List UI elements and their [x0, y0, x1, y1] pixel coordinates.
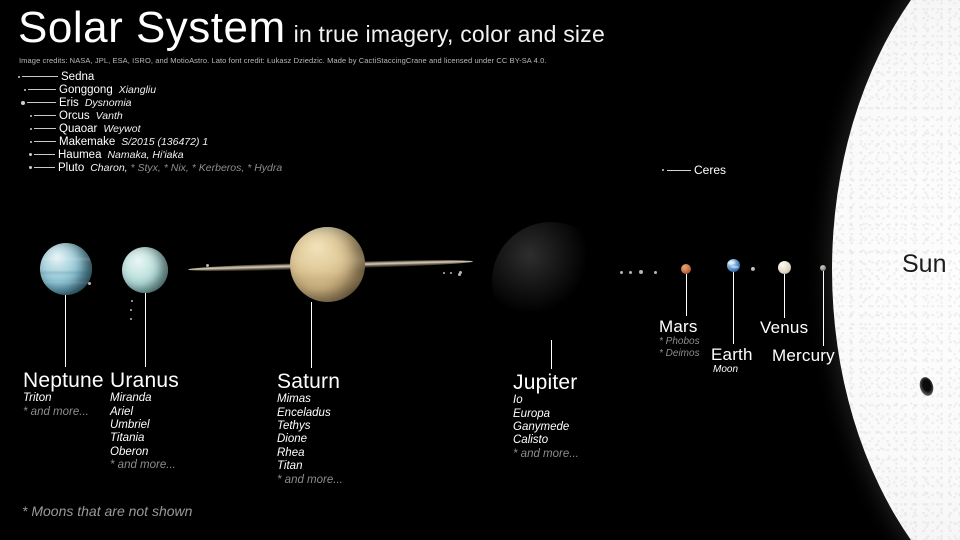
uranus-label: Uranus [110, 370, 179, 392]
uranus-moon-dot [130, 309, 132, 311]
list-item: Pluto Charon, * Styx, * Nix, * Kerberos,… [18, 161, 282, 174]
mars-moon-name: * Deimos [659, 348, 700, 360]
mercury-label-group: Mercury [772, 347, 835, 365]
ceres-callout: Ceres [662, 163, 726, 177]
earth-planet [727, 259, 740, 272]
saturn-moon-name: Mimas [277, 393, 343, 406]
venus-label-group: Venus [760, 319, 808, 337]
saturn-label-group: Saturn Mimas Enceladus Tethys Dione Rhea… [277, 371, 343, 487]
saturn-planet [290, 227, 365, 302]
neptune-more-moons: * and more... [23, 406, 104, 419]
saturn-moon-name: Rhea [277, 447, 343, 460]
jupiter-moon-name: Io [513, 394, 579, 407]
list-item: Eris Dysnomia [18, 96, 282, 109]
footnote: * Moons that are not shown [22, 503, 192, 519]
leader-line [28, 89, 56, 90]
dwarf-planet-dot [30, 141, 32, 143]
solar-system-infographic: Sun Solar Systemin true imagery, color a… [0, 0, 960, 540]
earth-label-group: Earth Moon [711, 346, 753, 376]
dwarf-planet-moons: Xiangliu [119, 84, 156, 96]
uranus-moon-name: Titania [110, 432, 179, 445]
title-main: Solar System [18, 3, 286, 52]
uranus-moon-name: Ariel [110, 406, 179, 419]
credits-line: Image credits: NASA, JPL, ESA, ISRO, and… [19, 56, 547, 65]
earth-clouds [727, 259, 740, 272]
jupiter-moon-dot [459, 271, 462, 274]
neptune-label: Neptune [23, 370, 104, 392]
earth-label: Earth [711, 346, 753, 364]
leader-line [34, 154, 55, 155]
jupiter-planet [492, 222, 610, 340]
neptune-moon-name: Triton [23, 392, 104, 405]
leader-line [823, 271, 824, 346]
list-item: Haumea Namaka, Hi'iaka [18, 148, 282, 161]
leader-line [733, 272, 734, 344]
leader-line [311, 302, 312, 368]
dwarf-planet-name: Pluto [58, 162, 84, 174]
leader-line [34, 167, 55, 168]
mars-planet [681, 264, 691, 274]
list-item: Quaoar Weywot [18, 122, 282, 135]
dwarf-planet-name: Sedna [61, 71, 94, 83]
dwarf-planet-moons: Dysnomia [85, 97, 132, 109]
dwarf-planet-name: Quaoar [59, 123, 97, 135]
list-item: Makemake S/2015 (136472) 1 [18, 135, 282, 148]
saturn-label: Saturn [277, 371, 343, 393]
uranus-label-group: Uranus Miranda Ariel Umbriel Titania Obe… [110, 370, 179, 473]
venus-label: Venus [760, 319, 808, 337]
leader-line [145, 293, 146, 367]
leader-line [65, 295, 66, 367]
jupiter-moon-dot [450, 272, 452, 274]
jupiter-moon-name: Europa [513, 408, 579, 421]
dwarf-planet-dot [18, 76, 20, 78]
jupiter-moon-dot [443, 272, 445, 274]
mars-label-group: Mars * Phobos * Deimos [659, 318, 700, 359]
sun-label: Sun [902, 250, 946, 279]
neptune-moon-triton [88, 282, 91, 285]
leader-line [22, 76, 58, 77]
mercury-label: Mercury [772, 347, 835, 365]
saturn-more-moons: * and more... [277, 474, 343, 487]
leader-line [686, 274, 687, 316]
dwarf-planet-moons: Namaka, Hi'iaka [107, 149, 183, 161]
dwarf-planet-name: Makemake [59, 136, 115, 148]
jupiter-shading [492, 222, 610, 340]
ceres-dot [662, 169, 664, 171]
jupiter-moon-dot [620, 271, 623, 274]
leader-line [667, 170, 691, 171]
uranus-planet [122, 247, 168, 293]
dwarf-planet-name: Eris [59, 97, 79, 109]
leader-line [784, 274, 785, 318]
dwarf-planet-name: Orcus [59, 110, 90, 122]
page-title: Solar Systemin true imagery, color and s… [18, 6, 605, 50]
moon-body [751, 267, 755, 271]
jupiter-moon-dot [629, 271, 632, 274]
dwarf-planet-moons-primary: Charon, [90, 162, 127, 174]
dwarf-planet-dot [24, 89, 26, 91]
saturn-moon-name: Dione [277, 433, 343, 446]
dwarf-planet-list: Sedna Gonggong Xiangliu Eris Dysnomia Or… [18, 70, 282, 174]
saturn-cloud-bands [290, 227, 365, 302]
leader-line [34, 115, 56, 116]
uranus-moon-name: Miranda [110, 392, 179, 405]
mars-label: Mars [659, 318, 700, 336]
neptune-cloud-bands [40, 243, 92, 295]
neptune-label-group: Neptune Triton * and more... [23, 370, 104, 419]
dwarf-planet-moons-hidden: * Styx, * Nix, * Kerberos, * Hydra [131, 162, 283, 174]
dwarf-planet-dot [21, 101, 25, 105]
jupiter-moon-dot [639, 270, 643, 274]
list-item: Gonggong Xiangliu [18, 83, 282, 96]
dwarf-planet-dot [29, 153, 32, 156]
dwarf-planet-moons: Weywot [103, 123, 140, 135]
earth-moon-name: Moon [713, 364, 753, 376]
list-item: Orcus Vanth [18, 109, 282, 122]
uranus-more-moons: * and more... [110, 459, 179, 472]
dwarf-planet-dot [30, 128, 32, 130]
saturn-moon-name: Titan [277, 460, 343, 473]
dwarf-planet-name: Gonggong [59, 84, 113, 96]
jupiter-label-group: Jupiter Io Europa Ganymede Calisto * and… [513, 372, 579, 461]
dwarf-planet-dot [29, 166, 32, 169]
dwarf-planet-moons: Vanth [96, 110, 123, 122]
jupiter-label: Jupiter [513, 372, 579, 394]
dwarf-planet-moons: S/2015 (136472) 1 [121, 136, 208, 148]
saturn-moon-name: Enceladus [277, 407, 343, 420]
uranus-moon-name: Umbriel [110, 419, 179, 432]
leader-line [34, 128, 56, 129]
jupiter-more-moons: * and more... [513, 448, 579, 461]
leader-line [27, 102, 56, 103]
jupiter-moon-dot [654, 271, 657, 274]
uranus-moon-dot [130, 318, 132, 320]
leader-line [34, 141, 56, 142]
uranus-moon-dot [131, 300, 133, 302]
mars-moon-name: * Phobos [659, 336, 700, 348]
dwarf-planet-dot [30, 115, 32, 117]
venus-planet [778, 261, 791, 274]
saturn-moon-name: Tethys [277, 420, 343, 433]
saturn-moon-dot [206, 264, 209, 267]
neptune-planet [40, 243, 92, 295]
jupiter-moon-name: Ganymede [513, 421, 579, 434]
uranus-moon-name: Oberon [110, 446, 179, 459]
jupiter-moon-name: Calisto [513, 434, 579, 447]
dwarf-planet-moons: Charon, * Styx, * Nix, * Kerberos, * Hyd… [90, 162, 282, 174]
leader-line [551, 340, 552, 369]
title-subtitle: in true imagery, color and size [294, 21, 605, 47]
dwarf-planet-name: Haumea [58, 149, 101, 161]
list-item: Sedna [18, 70, 282, 83]
ceres-label: Ceres [694, 163, 726, 177]
